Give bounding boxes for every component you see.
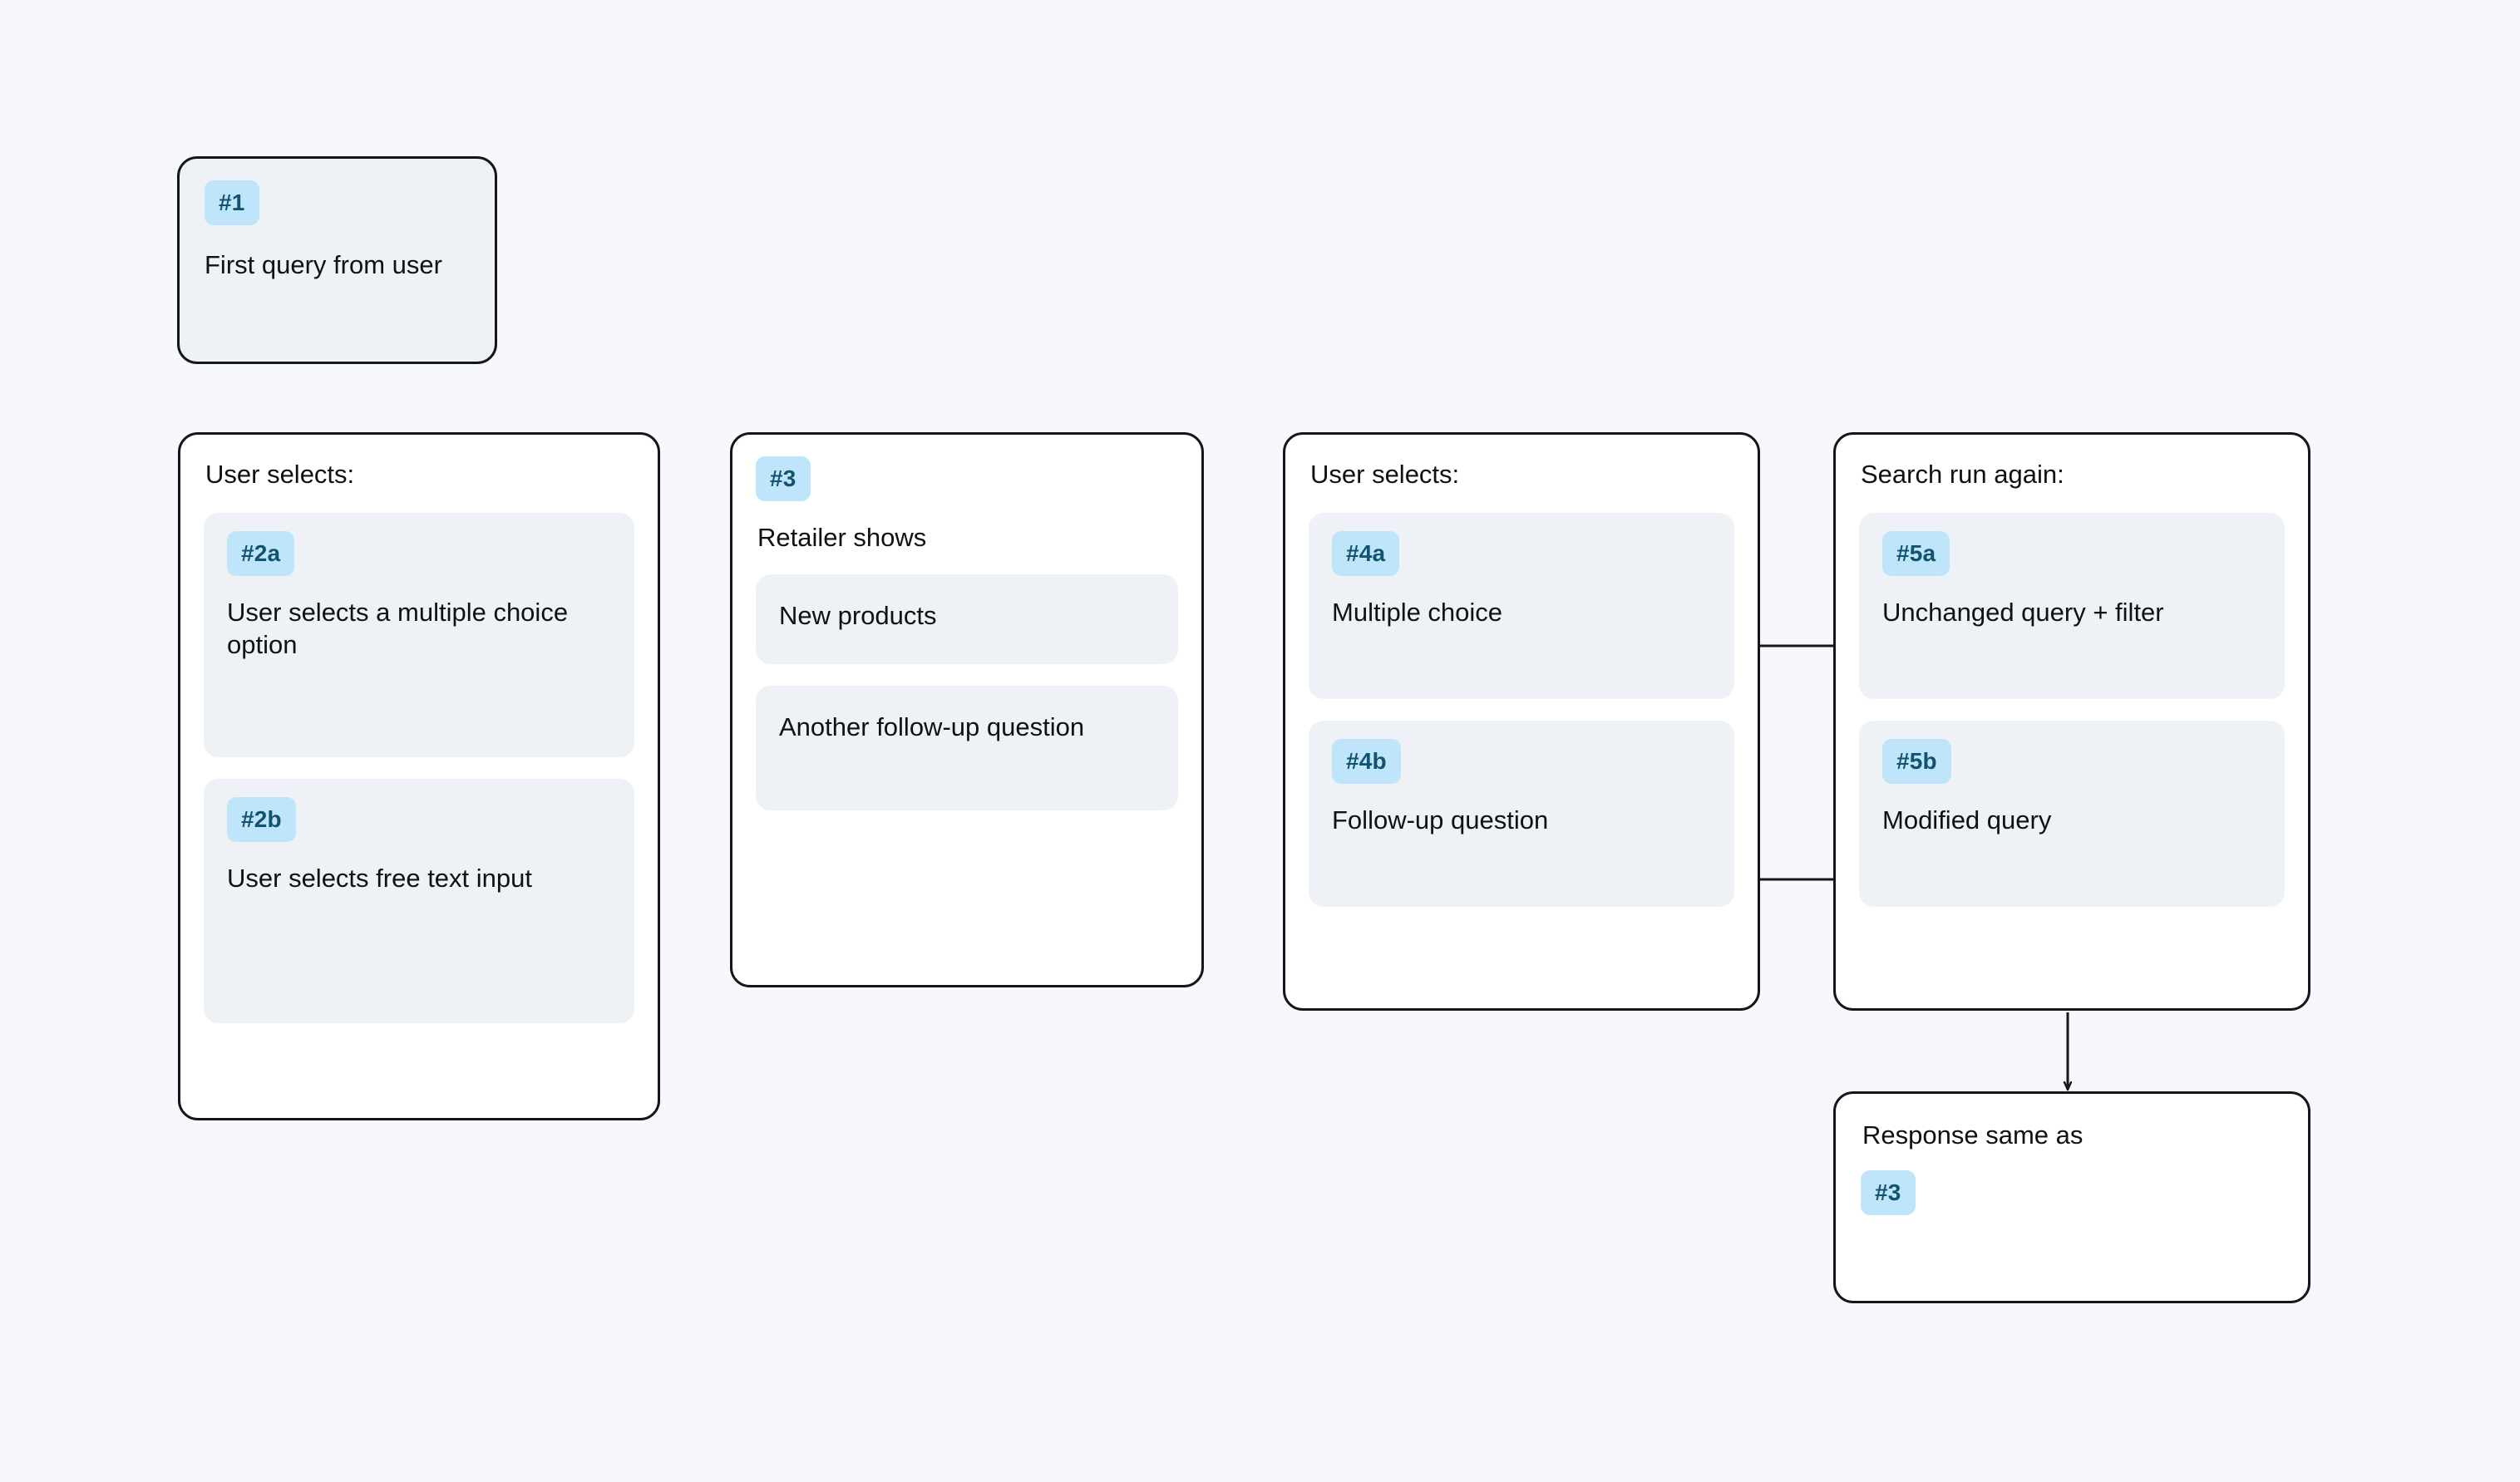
badge-step-5a: #5a bbox=[1882, 531, 1950, 576]
badge-step-3: #3 bbox=[756, 456, 811, 501]
option-5b-text: Modified query bbox=[1882, 804, 2261, 837]
option-4a-text: Multiple choice bbox=[1332, 596, 1711, 629]
badge-step-2b: #2b bbox=[227, 797, 296, 842]
option-5a-text: Unchanged query + filter bbox=[1882, 596, 2261, 629]
group-user-selects-step4[interactable]: User selects: #4a Multiple choice #4b Fo… bbox=[1283, 432, 1760, 1011]
option-4a[interactable]: #4a Multiple choice bbox=[1309, 513, 1734, 699]
node-first-query-text: First query from user bbox=[205, 249, 470, 282]
badge-step-5b: #5b bbox=[1882, 739, 1951, 784]
badge-response-reference: #3 bbox=[1861, 1170, 1916, 1215]
option-new-products-text: New products bbox=[779, 599, 1155, 633]
group-search-run-again-step5[interactable]: Search run again: #5a Unchanged query + … bbox=[1833, 432, 2310, 1011]
option-another-follow-up-question[interactable]: Another follow-up question bbox=[756, 686, 1178, 810]
badge-step-2a: #2a bbox=[227, 531, 294, 576]
node-response-same-as-text: Response same as bbox=[1862, 1119, 2283, 1152]
group-retailer-shows-step3[interactable]: #3 Retailer shows New products Another f… bbox=[730, 432, 1204, 987]
option-another-follow-up-question-text: Another follow-up question bbox=[779, 711, 1155, 744]
node-first-query[interactable]: #1 First query from user bbox=[177, 156, 497, 364]
option-2b[interactable]: #2b User selects free text input bbox=[204, 779, 634, 1023]
badge-step-1: #1 bbox=[205, 180, 259, 225]
option-2a-text: User selects a multiple choice option bbox=[227, 596, 611, 662]
option-4b-text: Follow-up question bbox=[1332, 804, 1711, 837]
option-2a[interactable]: #2a User selects a multiple choice optio… bbox=[204, 513, 634, 757]
option-5b[interactable]: #5b Modified query bbox=[1859, 721, 2285, 907]
flowchart-canvas: #1 First query from user User selects: #… bbox=[0, 0, 2520, 1482]
option-new-products[interactable]: New products bbox=[756, 574, 1178, 664]
group-retailer-shows-lead: Retailer shows bbox=[757, 521, 1178, 554]
option-4b[interactable]: #4b Follow-up question bbox=[1309, 721, 1734, 907]
option-5a[interactable]: #5a Unchanged query + filter bbox=[1859, 513, 2285, 699]
group-search-run-again-title: Search run again: bbox=[1861, 458, 2285, 491]
group-user-selects-step2[interactable]: User selects: #2a User selects a multipl… bbox=[178, 432, 660, 1120]
badge-step-4a: #4a bbox=[1332, 531, 1399, 576]
group-user-selects-step2-title: User selects: bbox=[205, 458, 634, 491]
node-response-same-as[interactable]: Response same as #3 bbox=[1833, 1091, 2310, 1303]
badge-step-4b: #4b bbox=[1332, 739, 1401, 784]
option-2b-text: User selects free text input bbox=[227, 862, 611, 895]
group-user-selects-step4-title: User selects: bbox=[1310, 458, 1734, 491]
